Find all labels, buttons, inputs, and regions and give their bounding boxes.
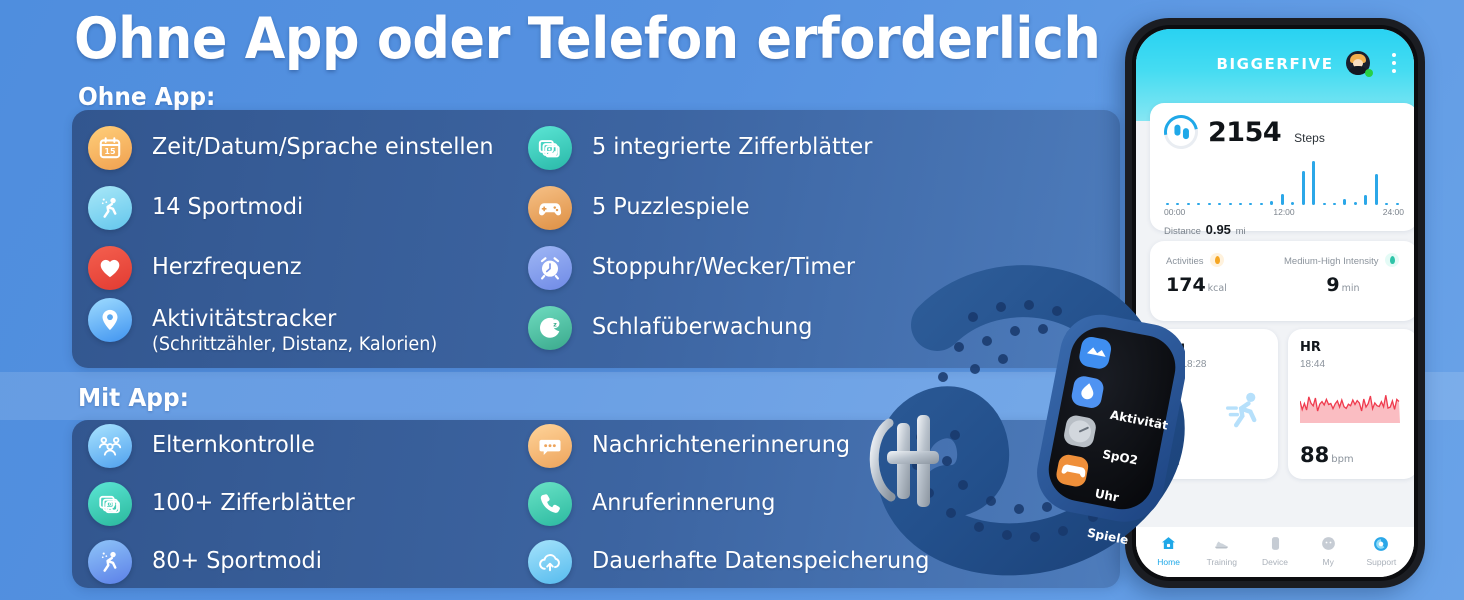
chart-bar [1166,203,1169,206]
chart-bar [1375,174,1378,205]
intensity-label-row: Medium-High Intensity [1284,253,1402,268]
chart-bar [1364,195,1367,205]
family-icon [88,424,132,468]
calendar-icon: 15 [88,126,132,170]
flame-icon [1210,253,1224,267]
intensity-label: Medium-High Intensity [1284,256,1379,267]
distance-value: 0.95 [1206,222,1231,237]
location-pin-icon [88,298,132,342]
feature-item: Aktivitätstracker (Schrittzähler, Distan… [88,298,452,356]
chart-bar [1343,199,1346,205]
smartwatch-product-image: Aktivität SpO2 Uhr Spiele [855,255,1185,600]
chart-bar [1218,203,1221,206]
tab-training[interactable]: Training [1195,534,1248,567]
feature-label: Anruferinnerung [592,482,775,516]
tab-device[interactable]: Device [1248,534,1301,567]
chart-bar [1291,202,1294,205]
feature-label: Schlafüberwachung [592,306,812,340]
activity-card[interactable]: Activities 174kcal Medium-High Intensity… [1150,241,1414,321]
chat-bubble-icon [528,424,572,468]
chart-bar [1323,203,1326,206]
feature-item: Nachrichtenerinnerung [528,424,864,468]
steps-card[interactable]: 2154 Steps 00:00 12:00 24:00 Distance 0.… [1150,103,1414,231]
chart-bar [1229,203,1232,206]
section-heading-mit-app: Mit App: [78,383,189,412]
my-icon [1302,534,1355,554]
chart-bar [1260,203,1263,206]
feature-label: 100+ Zifferblätter [152,482,355,516]
chart-bar [1239,203,1242,206]
gallery-icon [528,126,572,170]
device-icon [1248,534,1301,554]
feature-label: Nachrichtenerinnerung [592,424,850,458]
heart-rate-waveform [1300,391,1400,423]
gamepad-icon [528,186,572,230]
chart-bar [1208,203,1211,206]
runner-icon [88,540,132,584]
intensity-col: Medium-High Intensity 9min [1284,253,1402,296]
watch-svg: Aktivität SpO2 Uhr Spiele [855,255,1185,600]
online-status-dot [1365,69,1373,77]
steps-bar-chart [1164,153,1404,205]
tab-label: Support [1355,557,1408,567]
svg-text:100+: 100+ [106,502,120,508]
chart-bar [1354,202,1357,205]
hr-title: HR [1300,340,1406,355]
chart-bar [1281,194,1284,205]
axis-end: 24:00 [1383,207,1404,217]
feature-item: 80+ Sportmodi [88,540,331,584]
page-title: Ohne App oder Telefon erforderlich [74,6,1100,72]
tab-my[interactable]: My [1302,534,1355,567]
tab-support[interactable]: Support [1355,534,1408,567]
phone-icon [528,482,572,526]
support-icon [1355,534,1408,554]
feature-item: 15 Zeit/Datum/Sprache einstellen [88,126,511,170]
feature-item: 5 integrierte Zifferblätter [528,126,887,170]
feature-item: Elternkontrolle [88,424,324,468]
section-heading-ohne-app: Ohne App: [78,82,215,111]
chart-bar [1312,161,1315,205]
svg-text:z: z [553,321,557,328]
chart-bar [1302,171,1305,205]
chart-bar [1270,201,1273,205]
feature-item: Anruferinnerung [528,482,785,526]
tab-label: Device [1248,557,1301,567]
moon-sleep-icon: z [528,306,572,350]
chart-bar [1385,203,1388,206]
drop-icon [1385,253,1399,267]
chart-bar [1249,203,1252,206]
hr-unit: bpm [1331,454,1353,465]
feature-label: Herzfrequenz [152,246,302,280]
chart-bar [1396,203,1399,206]
feature-label: 80+ Sportmodi [152,540,322,574]
hr-value: 88bpm [1300,443,1354,467]
runner-icon [88,186,132,230]
axis-start: 00:00 [1164,207,1185,217]
hr-card[interactable]: HR 18:44 88bpm [1288,329,1414,479]
feature-label: Zeit/Datum/Sprache einstellen [152,126,494,160]
intensity-value: 9min [1284,274,1402,296]
steps-unit: Steps [1294,131,1325,149]
footsteps-icon [1157,108,1204,155]
running-person-icon [1222,387,1268,433]
axis-mid: 12:00 [1273,207,1294,217]
feature-item: Stoppuhr/Wecker/Timer [528,246,869,290]
feature-label: 5 integrierte Zifferblätter [592,126,872,160]
feature-sublabel: (Schrittzähler, Distanz, Kalorien) [152,333,437,356]
chart-bar [1187,203,1190,206]
feature-label: Elternkontrolle [152,424,315,458]
distance-row: Distance 0.95 mi [1164,222,1404,237]
chart-bar [1333,203,1336,206]
svg-text:15: 15 [104,147,116,156]
steps-value: 2154 [1208,117,1281,148]
feature-label: Aktivitätstracker [152,298,437,332]
tab-label: Training [1195,557,1248,567]
feature-label: 14 Sportmodi [152,186,303,220]
shoe-icon [1195,534,1248,554]
hr-time: 18:44 [1300,359,1406,370]
alarm-clock-icon [528,246,572,290]
steps-summary: 2154 Steps [1164,115,1404,149]
intensity-unit: min [1342,283,1360,294]
feature-item: 14 Sportmodi [88,186,311,230]
feature-item: 5 Puzzlespiele [528,186,758,230]
kebab-menu-icon[interactable] [1392,53,1396,77]
activities-unit: kcal [1208,283,1227,294]
feature-label: Stoppuhr/Wecker/Timer [592,246,855,280]
feature-item: z Schlafüberwachung [528,306,824,350]
chart-bar [1197,203,1200,206]
heart-icon [88,246,132,290]
tab-label: My [1302,557,1355,567]
cloud-upload-icon [528,540,572,584]
chart-bar [1176,203,1179,206]
distance-label: Distance [1164,226,1201,237]
watchface-icon: 100+ [88,482,132,526]
feature-item: Herzfrequenz [88,246,310,290]
feature-item: 100+ 100+ Zifferblätter [88,482,365,526]
steps-axis: 00:00 12:00 24:00 [1164,207,1404,217]
feature-label: 5 Puzzlespiele [592,186,750,220]
distance-unit: mi [1236,226,1246,237]
